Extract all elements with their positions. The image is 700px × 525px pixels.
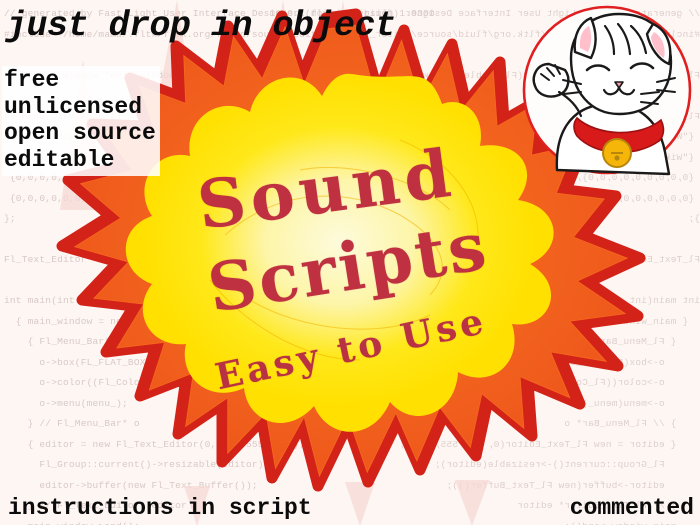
feature-item-free: free xyxy=(4,67,156,94)
maneki-neko-cat-icon xyxy=(519,2,695,178)
headline-line-easy-to-use: Easy to Use xyxy=(212,300,491,399)
feature-item-editable: editable xyxy=(4,147,156,174)
ghost-ray-icon xyxy=(455,480,489,525)
feature-item-unlicensed: unlicensed xyxy=(4,94,156,121)
feature-list: free unlicensed open source editable xyxy=(2,66,160,176)
poster-canvas: // generated by Fast Light User Interfac… xyxy=(0,0,700,525)
headline-line-sound: Sound xyxy=(193,133,460,244)
footer-instructions-in-script: instructions in script xyxy=(8,495,312,521)
ghost-ray-icon xyxy=(345,482,375,525)
footer-commented: commented xyxy=(570,495,694,521)
headline-block: Sound Scripts Easy to Use xyxy=(175,150,575,410)
feature-item-open-source: open source xyxy=(4,120,156,147)
headline-line-scripts: Scripts xyxy=(203,206,494,327)
tagline-just-drop-in-object: just drop in object xyxy=(6,6,396,46)
